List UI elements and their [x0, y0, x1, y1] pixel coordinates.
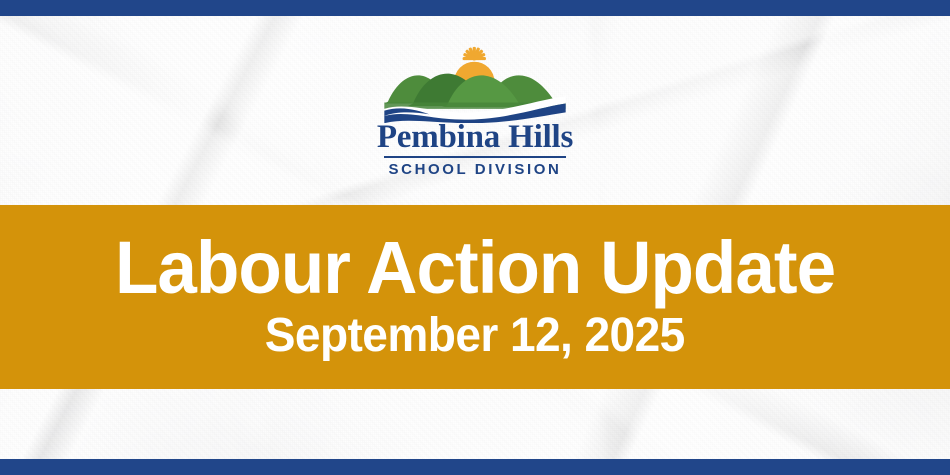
sun-over-hills-and-river-icon — [372, 46, 578, 123]
banner-date: September 12, 2025 — [265, 310, 685, 362]
pembina-hills-logo: Pembina Hills SCHOOL DIVISION — [0, 46, 950, 178]
logo-wordmark: Pembina Hills — [377, 119, 573, 155]
labour-action-update-banner: Pembina Hills SCHOOL DIVISION Labour Act… — [0, 0, 950, 475]
gold-title-band: Labour Action Update September 12, 2025 — [0, 205, 950, 389]
navy-bottom-rule — [0, 459, 950, 475]
banner-headline: Labour Action Update — [115, 228, 835, 308]
navy-top-rule — [0, 0, 950, 16]
logo-divider-rule — [384, 156, 566, 158]
logo-subtitle: SCHOOL DIVISION — [389, 162, 562, 178]
